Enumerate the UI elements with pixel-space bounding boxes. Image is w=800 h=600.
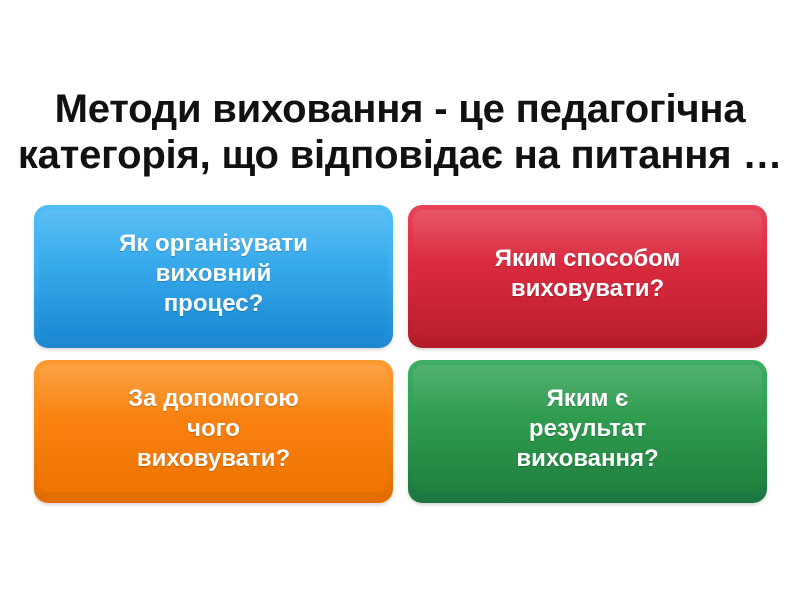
answer-option-4-line-1: Яким є [547, 385, 629, 412]
answer-options-grid: Як організувати виховний процес? Яким сп… [34, 205, 766, 501]
answer-option-4-label: Яким є результат виховання? [506, 384, 668, 474]
answer-option-1-label: Як організувати виховний процес? [109, 229, 318, 319]
answer-option-1-face: Як організувати виховний процес? [39, 210, 388, 337]
answer-option-4[interactable]: Яким є результат виховання? [408, 360, 767, 503]
answer-option-1[interactable]: Як організувати виховний процес? [34, 205, 393, 348]
answer-option-1-line-3: процес? [164, 290, 264, 317]
answer-option-2-line-2: виховувати? [511, 275, 664, 302]
answer-option-3-line-3: виховувати? [137, 445, 290, 472]
answer-option-3-face: За допомогою чого виховувати? [39, 365, 388, 492]
answer-option-4-line-3: виховання? [516, 445, 658, 472]
answer-option-1-line-1: Як організувати [119, 230, 308, 257]
answer-option-3-label: За допомогою чого виховувати? [118, 384, 309, 474]
answer-option-4-line-2: результат [529, 415, 646, 442]
answer-option-2-face: Яким способом виховувати? [413, 210, 762, 337]
answer-option-1-line-2: виховний [156, 260, 272, 287]
answer-option-3[interactable]: За допомогою чого виховувати? [34, 360, 393, 503]
answer-option-4-face: Яким є результат виховання? [413, 365, 762, 492]
question-prompt: Методи виховання - це педагогічна катего… [0, 86, 800, 178]
answer-option-3-line-2: чого [187, 415, 240, 442]
answer-option-2-label: Яким способом виховувати? [485, 244, 691, 304]
answer-option-3-line-1: За допомогою [128, 385, 299, 412]
question-line-2: категорія, що відповідає на питання … [0, 132, 800, 178]
question-line-1: Методи виховання - це педагогічна [0, 86, 800, 132]
quiz-slide: Методи виховання - це педагогічна катего… [0, 0, 800, 600]
answer-option-2[interactable]: Яким способом виховувати? [408, 205, 767, 348]
answer-option-2-line-1: Яким способом [495, 245, 681, 272]
